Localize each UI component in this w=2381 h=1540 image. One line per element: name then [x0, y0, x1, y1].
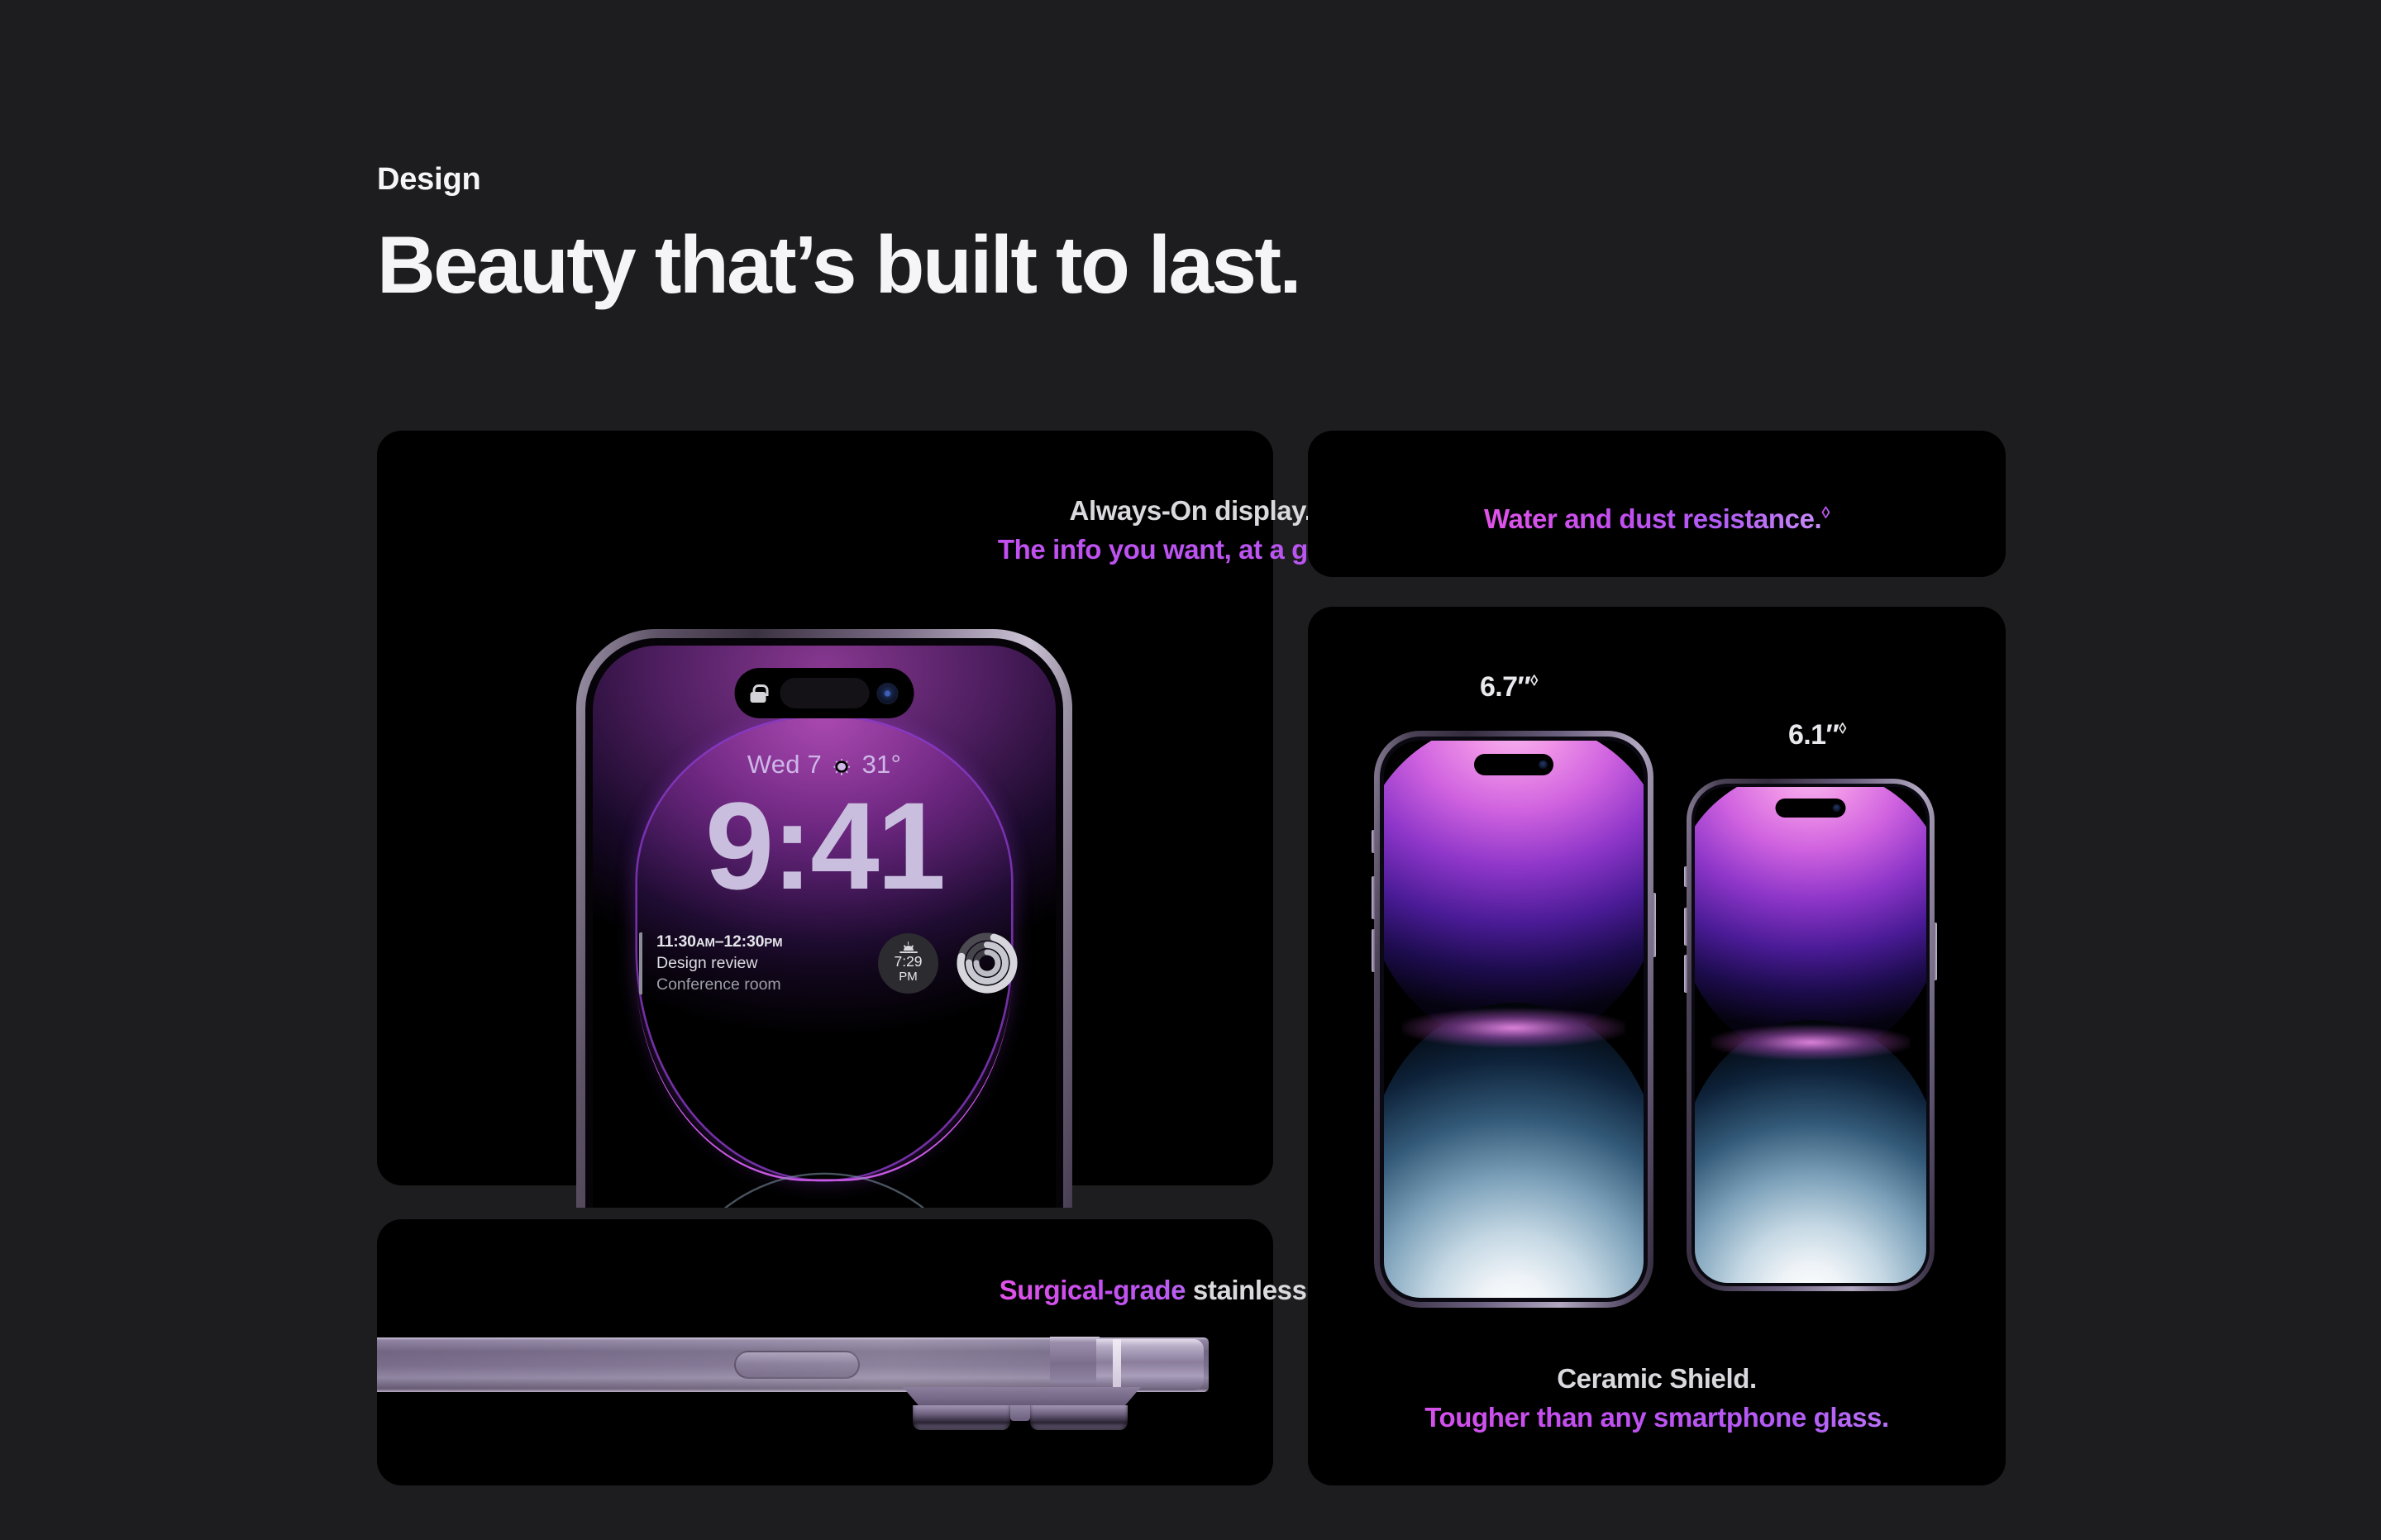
wallpaper-top-gradient [1384, 741, 1644, 1042]
caption-line-accent: Tougher than any smartphone glass. [1308, 1399, 2006, 1437]
volume-button [734, 1351, 860, 1379]
footnote-marker: ◊ [1821, 503, 1830, 522]
phone-bezel [1380, 737, 1648, 1302]
iphone-pro-max-mockup [1374, 731, 1653, 1308]
wallpaper-center-glow [1711, 1025, 1911, 1060]
volume-down-button [1372, 929, 1375, 972]
phone-frame: Wed 7 31° 9:41 11:30AM–12:30PM Design re… [576, 629, 1072, 1208]
side-button [1653, 893, 1656, 957]
page-title: Beauty that’s built to last. [377, 222, 1300, 308]
event-location: Conference room [656, 975, 861, 994]
band-end-edge [1096, 1339, 1204, 1390]
dynamic-island [1776, 799, 1846, 818]
caption-stainless-steel: Surgical-grade stainless steel. [0, 1271, 2381, 1310]
caption-always-on-display: Always-On display. The info you want, at… [0, 492, 2381, 570]
lock-icon [751, 684, 766, 703]
phone-screen [1695, 787, 1926, 1283]
lockscreen-temperature: 31° [862, 750, 901, 779]
sunset-time: 7:29 [894, 954, 922, 970]
dynamic-island-inner [780, 678, 870, 708]
caption-line-accent: The info you want, at a glance. [0, 531, 2381, 570]
event-title: Design review [656, 954, 861, 973]
front-camera-icon [877, 683, 899, 704]
volume-down-button [1684, 955, 1687, 993]
section-eyebrow: Design [377, 161, 1300, 199]
caption-water-dust: Water and dust resistance.◊ [1308, 500, 2006, 539]
sunset-period: PM [899, 970, 918, 984]
footnote-marker: ◊ [1839, 720, 1846, 737]
calendar-event-widget[interactable]: 11:30AM–12:30PM Design review Conference… [639, 932, 861, 994]
lockscreen-date: Wed 7 [747, 750, 822, 779]
screen-size-label-large: 6.7″◊ [1480, 671, 1538, 703]
section-header: Design Beauty that’s built to last. [377, 161, 1300, 307]
camera-lens-1 [913, 1405, 1010, 1430]
phone-bezel [1692, 784, 1930, 1286]
wallpaper-center-glow [1402, 1008, 1625, 1047]
camera-lens-2 [1030, 1405, 1128, 1430]
band-corner-segment [1050, 1337, 1100, 1393]
volume-up-button [1684, 908, 1687, 946]
activity-rings-widget[interactable] [955, 931, 1019, 995]
sunset-widget[interactable]: 7:29 PM [878, 933, 938, 994]
volume-up-button [1372, 876, 1375, 919]
design-section: Design Beauty that’s built to last. Alwa… [0, 0, 2381, 1540]
iphone-side-profile-mockup [377, 1337, 1273, 1437]
mute-switch [1372, 830, 1375, 853]
iphone-lockscreen-mockup: Wed 7 31° 9:41 11:30AM–12:30PM Design re… [576, 629, 1072, 1208]
sun-icon [833, 758, 851, 775]
caption-line-primary: Ceramic Shield. [1308, 1360, 2006, 1399]
lockscreen-widget-row: 11:30AM–12:30PM Design review Conference… [639, 931, 1019, 995]
iphone-pro-mockup [1687, 779, 1935, 1291]
caption-water-dust-text: Water and dust resistance. [1484, 503, 1821, 534]
phone-screen [1384, 741, 1644, 1298]
mute-switch [1684, 866, 1687, 887]
camera-lens-middle [1010, 1405, 1030, 1421]
sunset-icon [899, 942, 919, 953]
dynamic-island [735, 668, 914, 718]
dynamic-island [1474, 754, 1553, 775]
side-button [1934, 923, 1937, 980]
wallpaper-top-gradient [1695, 787, 1926, 1055]
screen-size-label-small: 6.1″◊ [1788, 719, 1846, 751]
footnote-marker: ◊ [1530, 672, 1538, 689]
caption-ceramic-shield: Ceramic Shield. Tougher than any smartph… [1308, 1360, 2006, 1437]
lockscreen-date-weather: Wed 7 31° [593, 750, 1056, 780]
activity-rings-icon [955, 931, 1019, 995]
phone-screen: Wed 7 31° 9:41 11:30AM–12:30PM Design re… [593, 646, 1056, 1208]
lockscreen-clock: 9:41 [593, 776, 1056, 915]
caption-line-primary: Always-On display. [0, 492, 2381, 531]
phone-bezel: Wed 7 31° 9:41 11:30AM–12:30PM Design re… [585, 638, 1063, 1208]
caption-highlight: Surgical-grade [1000, 1275, 1186, 1305]
event-time: 11:30AM–12:30PM [656, 932, 861, 951]
